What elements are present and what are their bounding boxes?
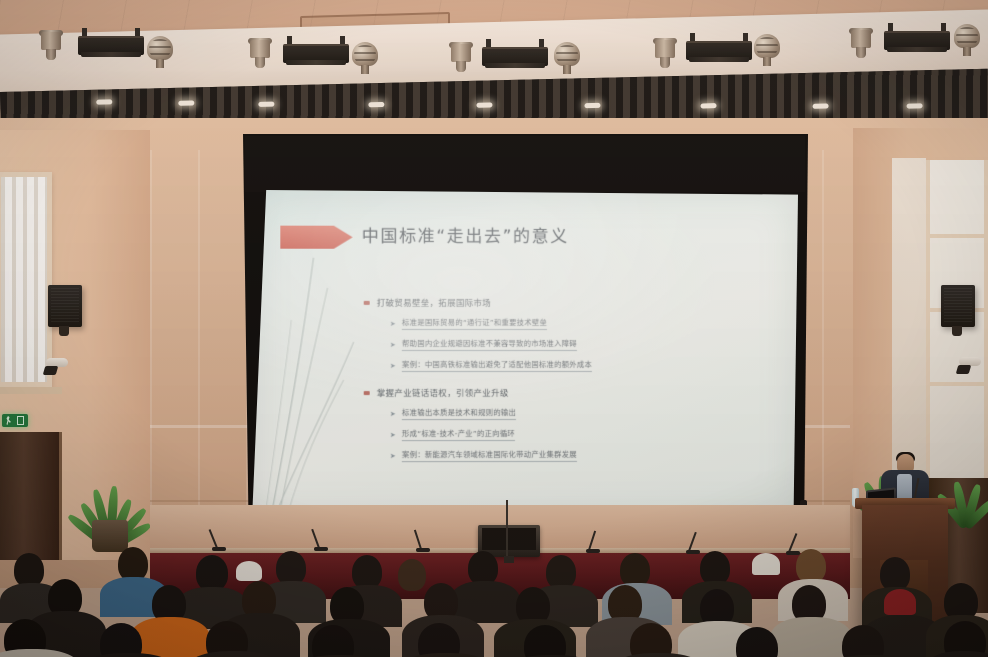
window-left xyxy=(0,172,52,387)
window-sill xyxy=(0,387,62,394)
slide-sub-bullet: ➤ 帮助国内企业规避因标准不兼容导致的市场准入障碍 xyxy=(390,339,764,351)
slide-bullet-text: 掌握产业链话语权，引领产业升级 xyxy=(377,387,509,399)
slide-sub-bullet: ➤ 标准输出本质是技术和规则的输出 xyxy=(390,408,764,420)
audience-head xyxy=(468,551,498,585)
stage-light-par-icon xyxy=(848,30,874,60)
slide-sub-bullet-text: 标准是国际贸易的“通行证”和重要技术壁垒 xyxy=(402,318,547,330)
audience-head xyxy=(14,553,44,587)
stage-light-par-icon xyxy=(652,40,678,70)
audience-head xyxy=(352,555,382,589)
audience-head xyxy=(620,553,650,587)
slide-body: 打破贸易壁垒，拓展国际市场 ➤ 标准是国际贸易的“通行证”和重要技术壁垒 ➤ 帮… xyxy=(364,286,764,462)
wall-speaker-left xyxy=(48,285,82,327)
slide-sub-bullet-text: 案例：中国高铁标准输出避免了适配他国标准的额外成本 xyxy=(402,360,592,372)
audience-head xyxy=(700,551,730,585)
audience-head-cap xyxy=(884,589,916,615)
slide-sub-bullet: ➤ 案例：新能源汽车领域标准国际化带动产业集群发展 xyxy=(390,450,764,462)
audience-shoulders xyxy=(770,617,852,657)
window-right xyxy=(892,158,926,488)
stage-light-fresnel-icon xyxy=(752,34,782,66)
slide-bullet: 打破贸易壁垒，拓展国际市场 xyxy=(364,297,764,309)
audience-head xyxy=(100,623,142,657)
bullet-marker-icon xyxy=(364,391,370,395)
slide-bullet: 掌握产业链话语权，引领产业升级 xyxy=(364,387,764,399)
chevron-right-icon: ➤ xyxy=(390,452,396,460)
stage-light-bar-icon xyxy=(283,41,349,69)
audience xyxy=(0,545,988,657)
chevron-right-icon: ➤ xyxy=(390,431,396,439)
stage-light-bar-icon xyxy=(482,44,548,72)
slide-bullet-text: 打破贸易壁垒，拓展国际市场 xyxy=(377,297,491,309)
stage-light-par-icon xyxy=(448,44,474,74)
stage-light-bar-icon xyxy=(686,38,752,66)
slide-sub-bullet: ➤ 形成“标准-技术-产业”的正向循环 xyxy=(390,429,764,441)
presentation-slide: 中国标准“走出去”的意义 打破贸易壁垒，拓展国际市场 ➤ 标准是国际贸易的“通行… xyxy=(251,189,797,520)
audience-head xyxy=(276,551,306,585)
audience-head xyxy=(630,623,672,657)
conference-hall-photo: 中国标准“走出去”的意义 打破贸易壁垒，拓展国际市场 ➤ 标准是国际贸易的“通行… xyxy=(0,0,988,657)
audience-shoulders xyxy=(130,617,210,657)
slide-sub-bullet-text: 标准输出本质是技术和规则的输出 xyxy=(402,408,516,420)
slide-sub-bullet-text: 案例：新能源汽车领域标准国际化带动产业集群发展 xyxy=(402,450,577,462)
chevron-right-icon: ➤ xyxy=(390,410,396,418)
security-camera-left xyxy=(44,358,70,374)
audience-head xyxy=(796,549,826,583)
stage-light-par-icon xyxy=(247,40,273,70)
slide-sub-bullet-text: 形成“标准-技术-产业”的正向循环 xyxy=(402,429,515,441)
stage-light-bar-icon xyxy=(78,33,144,61)
slide-title: 中国标准“走出去”的意义 xyxy=(362,222,762,248)
bullet-marker-icon xyxy=(364,301,370,305)
audience-head xyxy=(418,623,460,657)
chevron-right-icon: ➤ xyxy=(390,320,396,328)
stage-light-bar-icon xyxy=(884,28,950,56)
audience-head xyxy=(880,557,910,591)
audience-head xyxy=(546,555,576,589)
projection-screen-mask xyxy=(245,136,805,192)
audience-head-cap xyxy=(752,553,780,575)
slide-sub-bullet: ➤ 案例：中国高铁标准输出避免了适配他国标准的额外成本 xyxy=(390,360,764,372)
slide-sub-bullet: ➤ 标准是国际贸易的“通行证”和重要技术壁垒 xyxy=(390,318,764,330)
chevron-right-icon: ➤ xyxy=(390,341,396,349)
stage-light-fresnel-icon xyxy=(552,42,582,74)
stage-light-par-icon xyxy=(38,32,64,62)
audience-head xyxy=(236,561,262,581)
audience-head xyxy=(196,555,228,591)
exit-sign xyxy=(2,414,28,427)
stage-light-fresnel-icon xyxy=(145,36,175,68)
audience-head xyxy=(118,547,148,581)
stage-light-fresnel-icon xyxy=(350,42,380,74)
chevron-right-icon: ➤ xyxy=(390,362,396,370)
hall-door-left[interactable] xyxy=(0,432,62,560)
slide-grass-decoration xyxy=(257,230,378,516)
stage-light-fresnel-icon xyxy=(952,24,982,56)
slide-sub-bullet-text: 帮助国内企业规避因标准不兼容导致的市场准入障碍 xyxy=(402,339,577,351)
security-camera-right xyxy=(957,357,983,373)
audience-head xyxy=(398,559,426,591)
wall-speaker-right xyxy=(941,285,975,327)
